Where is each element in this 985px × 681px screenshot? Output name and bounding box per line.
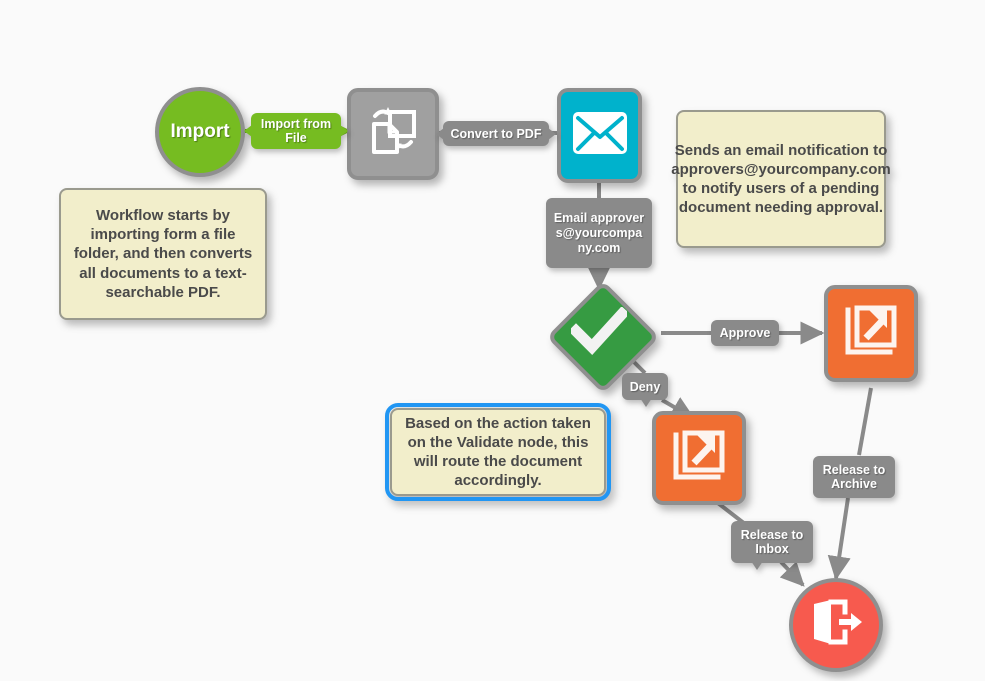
note-validate-text: Based on the action taken on the Validat… <box>402 414 594 491</box>
note-email[interactable]: Sends an email notification to approvers… <box>676 110 886 248</box>
edge-label-import-from-file-text: Import from File <box>257 117 335 145</box>
edge-label-convert-to-pdf[interactable]: Convert to PDF <box>443 121 549 146</box>
release-export-icon <box>670 427 728 490</box>
label-tail-left <box>244 125 252 137</box>
label-tail-left <box>436 128 444 140</box>
exit-door-icon <box>809 598 863 652</box>
edge-inbox-label-to-end <box>781 562 803 585</box>
node-validate[interactable] <box>539 281 659 385</box>
label-tail-right <box>340 125 348 137</box>
edge-label-convert-to-pdf-text: Convert to PDF <box>451 127 542 141</box>
note-import[interactable]: Workflow starts by importing form a file… <box>59 188 267 320</box>
release-export-icon <box>842 302 900 365</box>
checkmark-icon <box>571 307 627 360</box>
edge-label-email-approvers-text: Email approvers@yourcompany.com <box>552 211 646 256</box>
document-convert-icon <box>365 104 421 165</box>
node-import[interactable]: Import <box>155 87 245 177</box>
node-release-archive[interactable] <box>824 285 918 382</box>
edge-label-release-to-archive-text: Release to Archive <box>819 463 889 491</box>
node-end[interactable] <box>789 578 883 672</box>
edge-label-approve-text: Approve <box>720 326 771 340</box>
edge-label-release-to-inbox-text: Release to Inbox <box>737 528 807 556</box>
edge-label-release-to-inbox[interactable]: Release to Inbox <box>731 521 813 563</box>
edge-archive-label-to-end <box>836 498 848 578</box>
label-tail-right <box>548 128 556 140</box>
node-convert-to-pdf[interactable] <box>347 88 439 180</box>
edge-label-release-to-archive[interactable]: Release to Archive <box>813 456 895 498</box>
note-email-text: Sends an email notification to approvers… <box>671 141 890 218</box>
note-validate[interactable]: Based on the action taken on the Validat… <box>390 408 606 496</box>
label-tail-bottom <box>640 398 652 407</box>
edge-label-deny-text: Deny <box>630 380 661 394</box>
workflow-canvas: Import <box>0 0 985 681</box>
edge-label-email-approvers[interactable]: Email approvers@yourcompany.com <box>546 198 652 268</box>
edge-label-deny[interactable]: Deny <box>622 373 668 400</box>
edge-archive-to-label <box>859 388 871 455</box>
edge-label-approve[interactable]: Approve <box>711 320 779 346</box>
note-import-text: Workflow starts by importing form a file… <box>71 206 255 302</box>
node-email[interactable] <box>557 88 642 183</box>
envelope-icon <box>571 110 629 161</box>
node-import-label: Import <box>170 121 229 143</box>
label-tail-bottom <box>751 561 763 570</box>
edge-label-import-from-file[interactable]: Import from File <box>251 113 341 149</box>
node-release-inbox[interactable] <box>652 411 746 505</box>
